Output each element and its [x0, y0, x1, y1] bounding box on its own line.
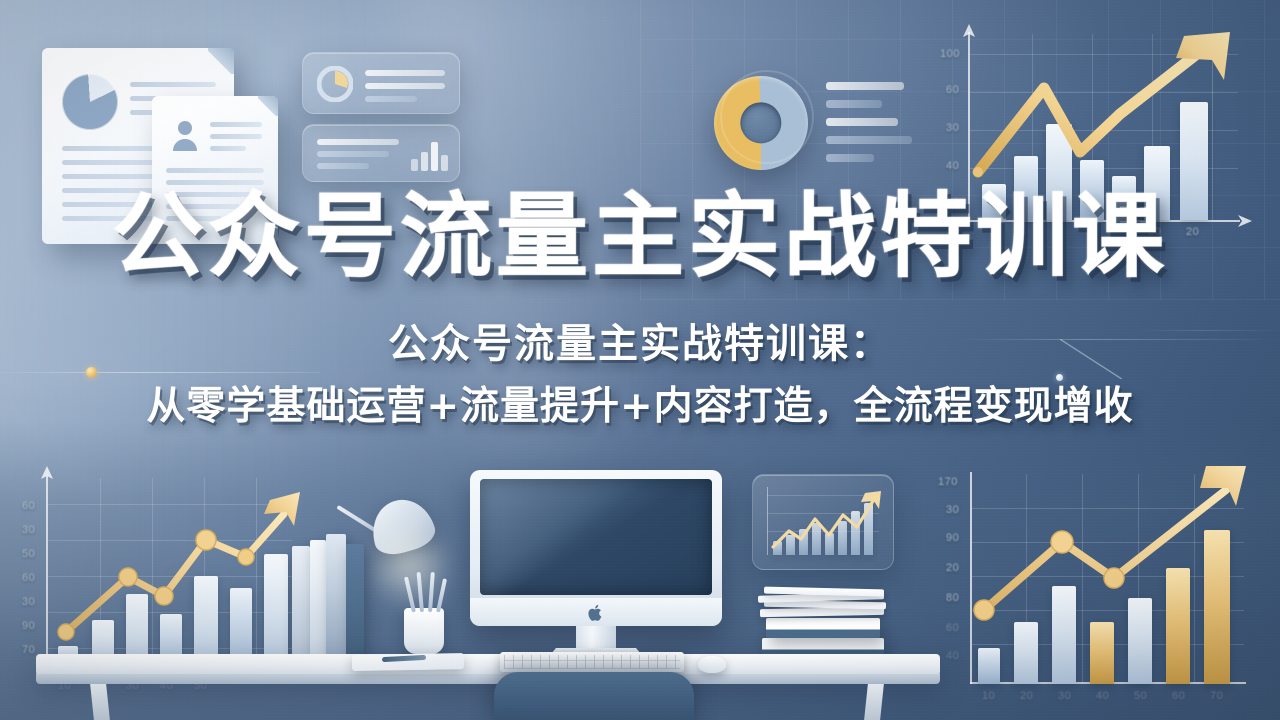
books-icon [766, 618, 880, 638]
pie-chart-icon [62, 74, 118, 130]
card-text-line [317, 151, 389, 157]
mouse-icon [698, 656, 726, 673]
legend-line [826, 100, 882, 108]
subtitle-line-1: 公众号流量主实战特训课： [0, 318, 1280, 370]
donut-legend [826, 82, 922, 166]
desk-edge [36, 674, 940, 684]
keyboard-icon [500, 652, 684, 672]
zigzag-arrow-icon [753, 475, 895, 571]
screen-glare [480, 479, 712, 595]
legend-line [826, 154, 874, 162]
books-icon [310, 540, 326, 658]
info-card-bars [302, 124, 460, 182]
subtitle-block: 公众号流量主实战特训课： 从零学基础运营+流量提升+内容打造，全流程变现增收 [0, 318, 1280, 433]
donut-ring-highlight [720, 70, 814, 164]
bar-chart-icon [411, 139, 451, 171]
pen-cup [404, 608, 444, 654]
books-icon [326, 534, 346, 658]
page-title: 公众号流量主实战特训课 [0, 188, 1280, 286]
document-fold-corner [208, 48, 234, 74]
doc-text-line [210, 122, 262, 127]
keyboard-keys [504, 655, 680, 669]
books-icon [292, 546, 310, 658]
chart-bottom-right: 170 30 90 20 80 60 40 10 20 30 40 50 60 … [948, 452, 1278, 720]
subtitle-line-2: 从零学基础运营+流量提升+内容打造，全流程变现增收 [0, 382, 1280, 433]
doc-text-line [130, 82, 216, 87]
card-text-line [365, 70, 445, 76]
legend-line [826, 82, 904, 90]
apple-logo-icon [588, 604, 604, 622]
doc-text-line [210, 146, 246, 151]
monitor-screen [480, 479, 712, 595]
card-text-line [365, 96, 417, 102]
card-text-line [317, 163, 369, 169]
person-icon [168, 118, 202, 152]
card-text-line [317, 139, 399, 145]
books-icon [346, 544, 364, 658]
info-card-trend [752, 474, 894, 570]
doc-text-line [166, 168, 264, 173]
legend-line [826, 136, 912, 144]
legend-line [826, 118, 898, 126]
document-fold-corner [258, 96, 278, 116]
monitor-icon [470, 470, 722, 626]
doc-text-line [210, 134, 262, 139]
card-text-line [365, 83, 445, 89]
info-card-pie [302, 52, 460, 114]
pie-chart-icon [317, 66, 353, 102]
title-block: 公众号流量主实战特训课 [0, 188, 1280, 286]
trend-arrow-icon [948, 452, 1278, 720]
desk-surface [36, 654, 940, 676]
chair-icon [494, 672, 694, 720]
poster-canvas: 100 60 30 40 50 30 20 [0, 0, 1280, 720]
